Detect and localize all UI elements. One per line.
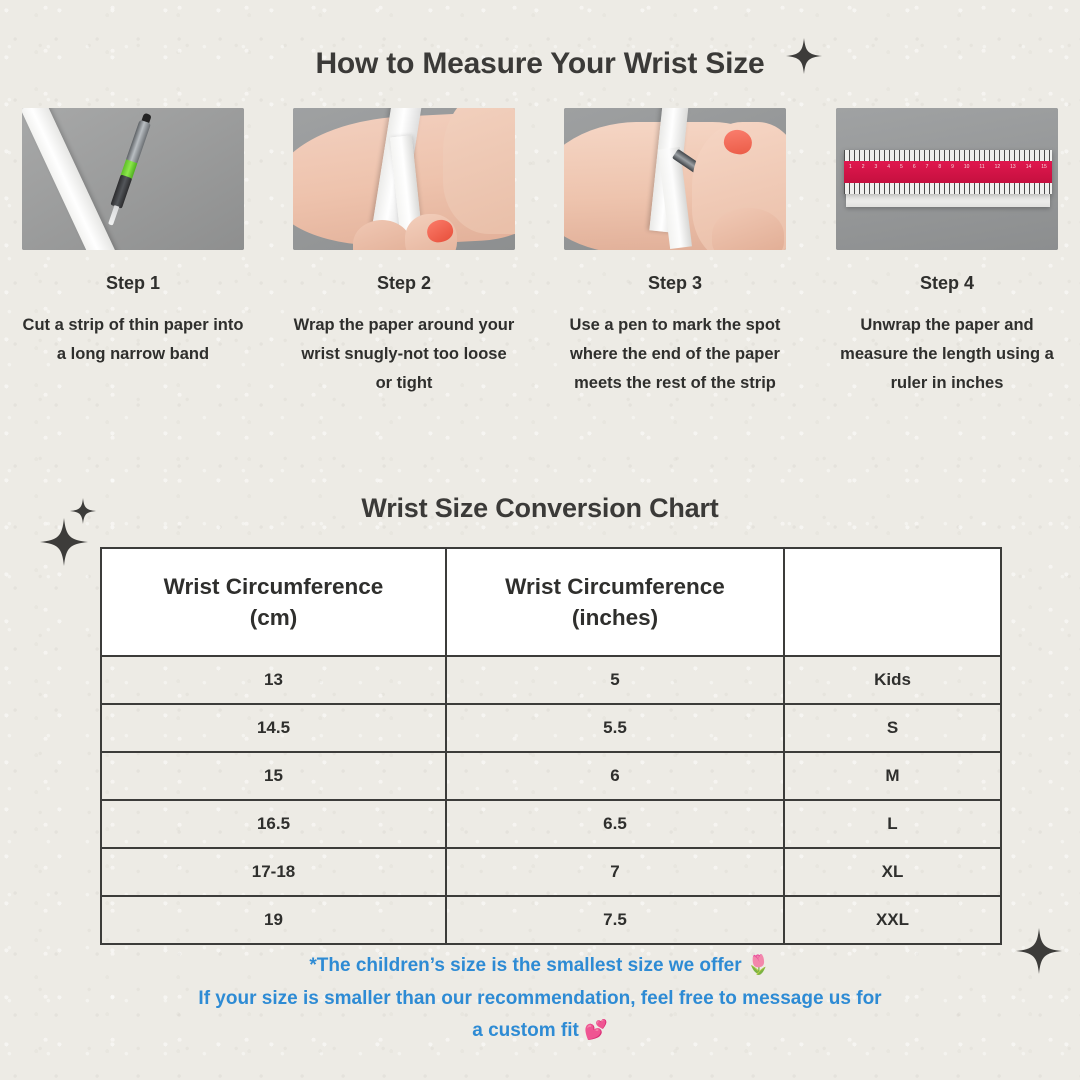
ruler-number: 5 xyxy=(900,164,903,170)
header-cm-line2: (cm) xyxy=(250,605,298,630)
table-row: 16.5 6.5 L xyxy=(101,800,1001,848)
ruler-number: 6 xyxy=(913,164,916,170)
ruler-number: 3 xyxy=(875,164,878,170)
ruler-number: 13 xyxy=(1010,164,1016,170)
step-1-description: Cut a strip of thin paper into a long na… xyxy=(6,311,260,369)
table-row: 17-18 7 XL xyxy=(101,848,1001,896)
ruler-number: 2 xyxy=(862,164,865,170)
step-2-label: Step 2 xyxy=(277,273,531,294)
page-title: How to Measure Your Wrist Size xyxy=(0,47,1080,81)
step-3-photo xyxy=(564,108,786,250)
step-card-3: Step 3 Use a pen to mark the spot where … xyxy=(548,108,802,398)
ruler-number: 11 xyxy=(979,164,984,170)
table-header-row: Wrist Circumference (cm) Wrist Circumfer… xyxy=(101,548,1001,656)
table-row: 14.5 5.5 S xyxy=(101,704,1001,752)
table-body: 13 5 Kids 14.5 5.5 S 15 6 M 16.5 6.5 L 1… xyxy=(101,656,1001,944)
cell-size: XXL xyxy=(784,896,1001,944)
cell-cm: 16.5 xyxy=(101,800,446,848)
header-cm-line1: Wrist Circumference xyxy=(164,574,384,599)
table-row: 13 5 Kids xyxy=(101,656,1001,704)
step-4-description: Unwrap the paper and measure the length … xyxy=(820,311,1074,398)
cell-inches: 6.5 xyxy=(446,800,784,848)
ruler-number: 4 xyxy=(887,164,890,170)
cell-size: Kids xyxy=(784,656,1001,704)
cell-inches: 7 xyxy=(446,848,784,896)
step-3-description: Use a pen to mark the spot where the end… xyxy=(548,311,802,398)
ruler-number: 12 xyxy=(995,164,1001,170)
cell-inches: 7.5 xyxy=(446,896,784,944)
infographic-stage: How to Measure Your Wrist Size Step 1 Cu… xyxy=(0,0,1080,1080)
ruler-number: 15 xyxy=(1041,164,1047,170)
cell-inches: 5 xyxy=(446,656,784,704)
footnote-line-3: a custom fit 💕 xyxy=(60,1015,1020,1048)
cell-cm: 15 xyxy=(101,752,446,800)
header-inches-line2: (inches) xyxy=(572,605,658,630)
step-3-label: Step 3 xyxy=(548,273,802,294)
cell-cm: 17-18 xyxy=(101,848,446,896)
step-card-1: Step 1 Cut a strip of thin paper into a … xyxy=(6,108,260,369)
step-card-4: 123456789101112131415 Step 4 Unwrap the … xyxy=(820,108,1074,398)
cell-size: L xyxy=(784,800,1001,848)
ruler-number: 10 xyxy=(964,164,970,170)
step-4-label: Step 4 xyxy=(820,273,1074,294)
ruler-number: 14 xyxy=(1026,164,1032,170)
step-1-photo xyxy=(22,108,244,250)
ruler-number: 1 xyxy=(849,164,852,170)
ruler-number: 9 xyxy=(951,164,954,170)
cell-cm: 13 xyxy=(101,656,446,704)
cell-inches: 6 xyxy=(446,752,784,800)
ruler-numbers: 123456789101112131415 xyxy=(844,162,1052,172)
ruler-shape: 123456789101112131415 xyxy=(844,150,1052,194)
cell-size: XL xyxy=(784,848,1001,896)
footnote-line-2: If your size is smaller than our recomme… xyxy=(60,983,1020,1016)
ruler-number: 7 xyxy=(926,164,929,170)
cell-cm: 14.5 xyxy=(101,704,446,752)
cell-size: S xyxy=(784,704,1001,752)
header-cell-cm: Wrist Circumference (cm) xyxy=(101,548,446,656)
cell-size: M xyxy=(784,752,1001,800)
footnote-line-1: *The children’s size is the smallest siz… xyxy=(60,950,1020,983)
sparkle-chart-large-icon xyxy=(40,518,88,566)
cell-cm: 19 xyxy=(101,896,446,944)
footnote: *The children’s size is the smallest siz… xyxy=(60,950,1020,1048)
steps-row: Step 1 Cut a strip of thin paper into a … xyxy=(0,108,1080,448)
header-cell-inches: Wrist Circumference (inches) xyxy=(446,548,784,656)
step-1-label: Step 1 xyxy=(6,273,260,294)
sparkle-bottom-right-icon xyxy=(1016,928,1062,974)
wrist-size-conversion-table: Wrist Circumference (cm) Wrist Circumfer… xyxy=(100,547,1002,945)
ruler-number: 8 xyxy=(938,164,941,170)
step-2-description: Wrap the paper around your wrist snugly-… xyxy=(277,311,531,398)
step-4-photo: 123456789101112131415 xyxy=(836,108,1058,250)
header-inches-line1: Wrist Circumference xyxy=(505,574,725,599)
step-card-2: Step 2 Wrap the paper around your wrist … xyxy=(277,108,531,398)
cell-inches: 5.5 xyxy=(446,704,784,752)
step-2-photo xyxy=(293,108,515,250)
table-row: 15 6 M xyxy=(101,752,1001,800)
section-title: Wrist Size Conversion Chart xyxy=(0,493,1080,524)
table-row: 19 7.5 XXL xyxy=(101,896,1001,944)
header-cell-size xyxy=(784,548,1001,656)
